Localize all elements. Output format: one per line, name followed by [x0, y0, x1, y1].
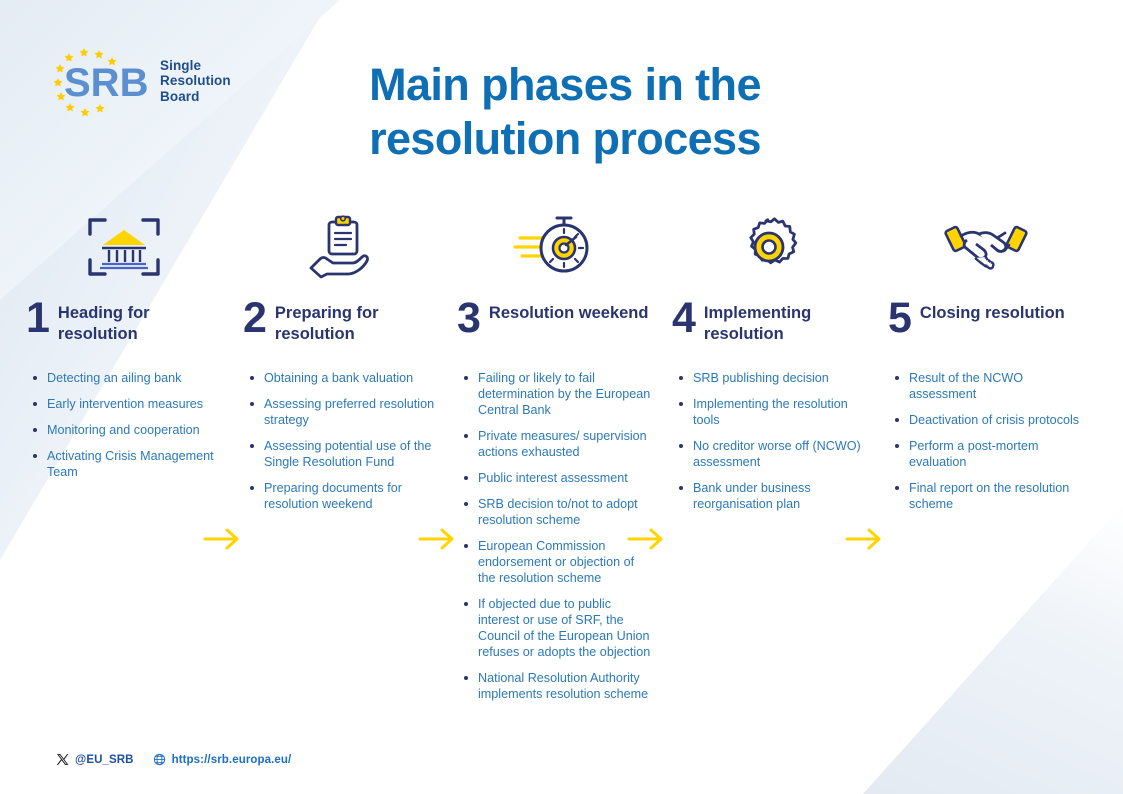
stopwatch-speed-icon [512, 214, 598, 280]
arrow-1-to-2 [203, 526, 243, 552]
list-item: Result of the NCWO assessment [888, 370, 1084, 402]
phase-5-list: Result of the NCWO assessment Deactivati… [888, 370, 1084, 512]
phase-3-title: Resolution weekend [489, 298, 649, 324]
phase-column-3: 3 Resolution weekend Failing or likely t… [457, 208, 653, 712]
phase-3-header: 3 Resolution weekend [457, 298, 653, 360]
list-item: European Commission endorsement or objec… [457, 538, 653, 586]
phase-3-number: 3 [457, 298, 481, 338]
list-item: If objected due to public interest or us… [457, 596, 653, 660]
phase-column-4: 4 Implementing resolution SRB publishing… [672, 208, 868, 522]
srb-logo-svg: SRB [42, 40, 154, 122]
srb-logo: SRB Single Resolution Board [42, 38, 292, 124]
page-title: Main phases in the resolution process [330, 58, 800, 166]
list-item: SRB publishing decision [672, 370, 868, 386]
bank-scan-icon [86, 214, 162, 280]
srb-logo-wordmark: Single Resolution Board [160, 58, 231, 105]
list-item: Final report on the resolution scheme [888, 480, 1084, 512]
arrow-right-icon [418, 526, 458, 552]
phase-4-number: 4 [672, 298, 696, 338]
website-url[interactable]: https://srb.europa.eu/ [172, 754, 292, 766]
list-item: Private measures/ supervision actions ex… [457, 428, 653, 460]
phase-2-list: Obtaining a bank valuation Assessing pre… [243, 370, 439, 512]
phase-3-icon-wrap [457, 208, 653, 286]
list-item: Deactivation of crisis protocols [888, 412, 1084, 428]
logo-word-board: Board [160, 89, 231, 105]
logo-word-resolution: Resolution [160, 73, 231, 89]
list-item: Activating Crisis Management Team [26, 448, 222, 480]
page-title-line-1: Main phases in the [330, 58, 800, 112]
hand-clipboard-icon [303, 214, 379, 280]
x-handle[interactable]: @EU_SRB [75, 754, 134, 766]
list-item: National Resolution Authority implements… [457, 670, 653, 702]
phase-1-title: Heading for resolution [58, 298, 222, 345]
list-item: No creditor worse off (NCWO) assessment [672, 438, 868, 470]
list-item: Preparing documents for resolution weeke… [243, 480, 439, 512]
list-item: Bank under business reorganisation plan [672, 480, 868, 512]
phase-4-header: 4 Implementing resolution [672, 298, 868, 360]
phase-5-icon-wrap [888, 208, 1084, 286]
handshake-icon [943, 214, 1029, 280]
arrow-4-to-5 [845, 526, 885, 552]
phase-column-1: 1 Heading for resolution Detecting an ai… [26, 208, 222, 490]
list-item: Obtaining a bank valuation [243, 370, 439, 386]
logo-word-single: Single [160, 58, 231, 74]
list-item: Failing or likely to fail determination … [457, 370, 653, 418]
phases-row: 1 Heading for resolution Detecting an ai… [0, 208, 1123, 768]
footer-social: @EU_SRB https://srb.europa.eu/ [56, 753, 291, 766]
list-item: Public interest assessment [457, 470, 653, 486]
srb-logo-letters: SRB [64, 61, 148, 105]
phase-2-title: Preparing for resolution [275, 298, 439, 345]
phase-1-header: 1 Heading for resolution [26, 298, 222, 360]
list-item: Detecting an ailing bank [26, 370, 222, 386]
phase-5-title: Closing resolution [920, 298, 1065, 324]
phase-4-icon-wrap [672, 208, 868, 286]
list-item: Perform a post-mortem evaluation [888, 438, 1084, 470]
phase-2-number: 2 [243, 298, 267, 338]
list-item: SRB decision to/not to adopt resolution … [457, 496, 653, 528]
x-twitter-icon[interactable] [56, 753, 69, 766]
list-item: Assessing potential use of the Single Re… [243, 438, 439, 470]
phase-2-header: 2 Preparing for resolution [243, 298, 439, 360]
phase-1-icon-wrap [26, 208, 222, 286]
globe-icon[interactable] [153, 753, 166, 766]
list-item: Monitoring and cooperation [26, 422, 222, 438]
arrow-right-icon [845, 526, 885, 552]
arrow-2-to-3 [418, 526, 458, 552]
phase-4-list: SRB publishing decision Implementing the… [672, 370, 868, 512]
phase-5-header: 5 Closing resolution [888, 298, 1084, 360]
list-item: Implementing the resolution tools [672, 396, 868, 428]
phase-4-title: Implementing resolution [704, 298, 868, 345]
list-item: Early intervention measures [26, 396, 222, 412]
phase-5-number: 5 [888, 298, 912, 338]
phase-1-number: 1 [26, 298, 50, 338]
phase-3-list: Failing or likely to fail determination … [457, 370, 653, 702]
gear-icon [732, 214, 808, 280]
srb-logo-mark: SRB [42, 40, 154, 122]
infographic-poster: SRB Single Resolution Board Main phases … [0, 0, 1123, 794]
arrow-right-icon [203, 526, 243, 552]
phase-column-2: 2 Preparing for resolution Obtaining a b… [243, 208, 439, 522]
phase-2-icon-wrap [243, 208, 439, 286]
page-title-line-2: resolution process [330, 112, 800, 166]
phase-1-list: Detecting an ailing bank Early intervent… [26, 370, 222, 480]
list-item: Assessing preferred resolution strategy [243, 396, 439, 428]
phase-column-5: 5 Closing resolution Result of the NCWO … [888, 208, 1084, 522]
